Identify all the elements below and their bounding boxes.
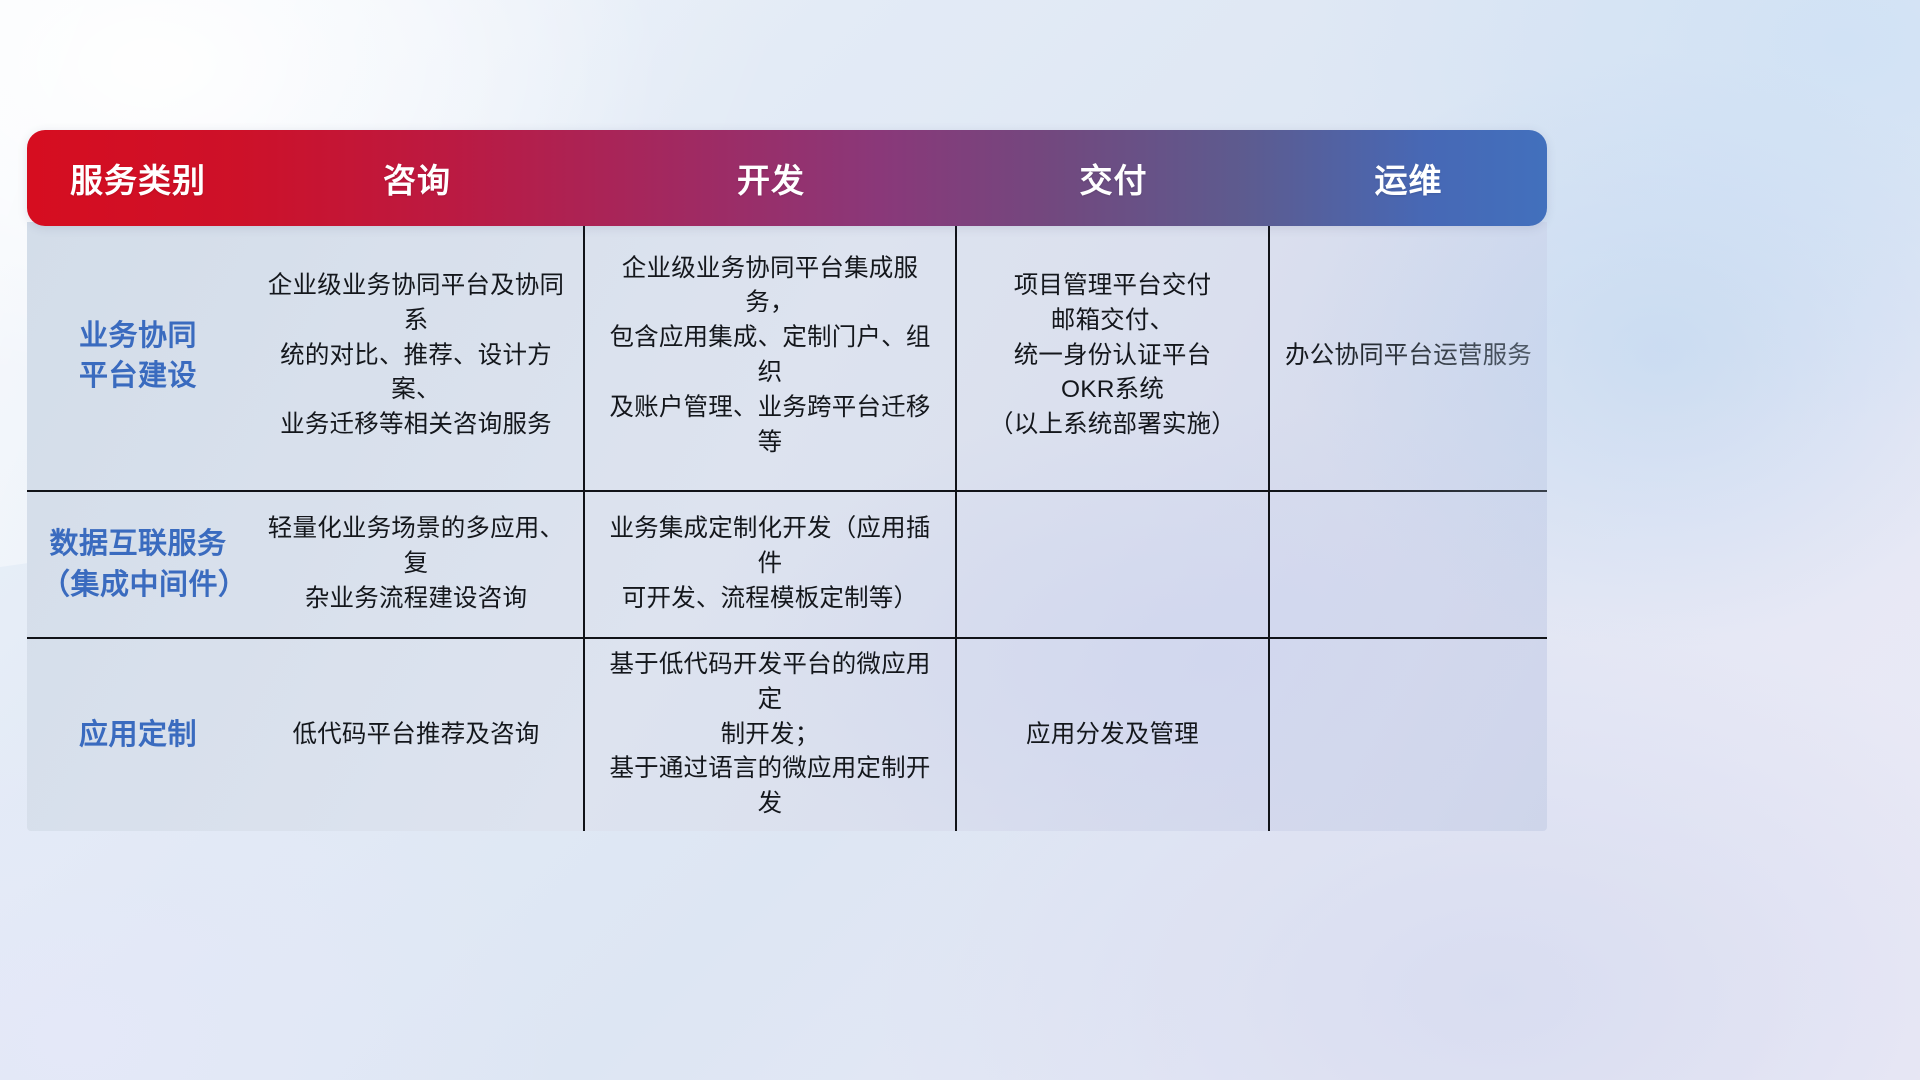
column-header-category: 服务类别	[27, 154, 249, 202]
cell-development: 基于低代码开发平台的微应用定 制开发； 基于通过语言的微应用定制开发	[585, 639, 957, 831]
cell-delivery	[957, 492, 1270, 637]
cell-text: 业务集成定制化开发（应用插件 可开发、流程模板定制等）	[599, 512, 941, 616]
cell-text: 低代码平台推荐及咨询	[293, 718, 540, 753]
cell-text: 基于低代码开发平台的微应用定 制开发； 基于通过语言的微应用定制开发	[599, 648, 941, 822]
cell-delivery: 应用分发及管理	[957, 639, 1270, 831]
table-row: 数据互联服务 （集成中间件） 轻量化业务场景的多应用、复 杂业务流程建设咨询 业…	[27, 492, 1547, 639]
cell-operations	[1270, 639, 1547, 831]
table-body: 业务协同 平台建设 企业级业务协同平台及协同系 统的对比、推荐、设计方案、 业务…	[27, 222, 1547, 831]
slide-canvas: 服务类别 咨询 开发 交付 运维 业务协同 平台建设 企业级业务协同平台及协同系…	[0, 0, 1920, 1080]
table-row: 应用定制 低代码平台推荐及咨询 基于低代码开发平台的微应用定 制开发； 基于通过…	[27, 639, 1547, 831]
row-category-label: 数据互联服务 （集成中间件）	[27, 492, 249, 637]
cell-consulting: 企业级业务协同平台及协同系 统的对比、推荐、设计方案、 业务迁移等相关咨询服务	[249, 222, 585, 490]
table-row: 业务协同 平台建设 企业级业务协同平台及协同系 统的对比、推荐、设计方案、 业务…	[27, 222, 1547, 492]
column-header-delivery: 交付	[957, 154, 1270, 202]
cell-text: 轻量化业务场景的多应用、复 杂业务流程建设咨询	[263, 512, 569, 616]
cell-delivery: 项目管理平台交付 邮箱交付、 统一身份认证平台 OKR系统 （以上系统部署实施）	[957, 222, 1270, 490]
cell-operations: 办公协同平台运营服务	[1270, 222, 1547, 490]
cell-consulting: 轻量化业务场景的多应用、复 杂业务流程建设咨询	[249, 492, 585, 637]
cell-development: 企业级业务协同平台集成服务， 包含应用集成、定制门户、组织 及账户管理、业务跨平…	[585, 222, 957, 490]
cell-text: 项目管理平台交付 邮箱交付、 统一身份认证平台 OKR系统 （以上系统部署实施）	[989, 269, 1236, 443]
row-category-label: 业务协同 平台建设	[27, 222, 249, 490]
cell-text: 办公协同平台运营服务	[1285, 339, 1532, 374]
cell-operations	[1270, 492, 1547, 637]
cell-text: 企业级业务协同平台及协同系 统的对比、推荐、设计方案、 业务迁移等相关咨询服务	[263, 269, 569, 443]
cell-text: 应用分发及管理	[1026, 718, 1199, 753]
service-matrix-table: 服务类别 咨询 开发 交付 运维 业务协同 平台建设 企业级业务协同平台及协同系…	[27, 130, 1547, 770]
column-header-operations: 运维	[1270, 154, 1547, 202]
cell-text: 企业级业务协同平台集成服务， 包含应用集成、定制门户、组织 及账户管理、业务跨平…	[599, 252, 941, 461]
column-header-development: 开发	[585, 154, 957, 202]
table-header-row: 服务类别 咨询 开发 交付 运维	[27, 130, 1547, 226]
cell-consulting: 低代码平台推荐及咨询	[249, 639, 585, 831]
row-category-label: 应用定制	[27, 639, 249, 831]
cell-development: 业务集成定制化开发（应用插件 可开发、流程模板定制等）	[585, 492, 957, 637]
column-header-consulting: 咨询	[249, 154, 585, 202]
